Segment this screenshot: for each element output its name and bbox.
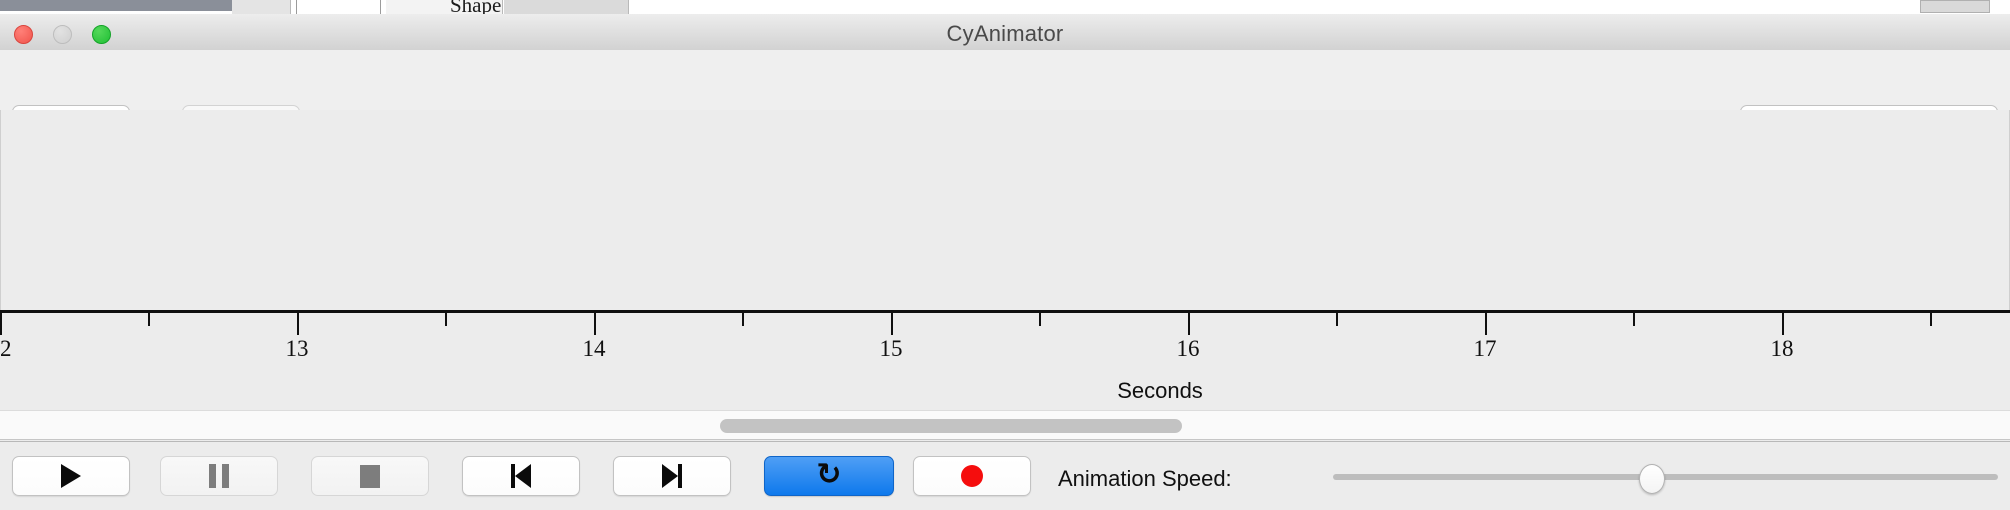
axis-tick-minor [148,313,150,326]
axis-tick-major [1782,313,1784,335]
axis-tick-label: 15 [880,336,903,362]
axis-tick-major [891,313,893,335]
background-tab-3 [504,0,629,14]
skip-forward-icon [662,464,682,488]
axis-tick-label: 14 [583,336,606,362]
background-shape-label: Shape [450,0,501,14]
play-icon [61,464,81,488]
axis-tick-minor [445,313,447,326]
background-window-strip: Shape [0,0,2010,14]
animation-speed-slider-track[interactable] [1333,474,1998,480]
horizontal-scrollbar[interactable] [0,410,2010,440]
background-tab-1 [232,0,291,14]
pause-icon [209,464,229,488]
background-divider-1 [296,0,297,14]
scrollbar-thumb[interactable] [720,419,1182,433]
record-button[interactable] [913,456,1031,496]
axis-tick-label: 18 [1771,336,1794,362]
title-bar[interactable]: CyAnimator [0,14,2010,51]
background-divider-2 [380,0,381,14]
loop-icon: ↻ [816,460,841,490]
background-right-box [1920,0,1990,13]
axis-tick-label: 12 [0,336,12,362]
transport-bar: ↻ Animation Speed: [0,441,2010,510]
axis-tick-major [1485,313,1487,335]
play-button[interactable] [12,456,130,496]
axis-tick-major [297,313,299,335]
axis-tick-label: 17 [1474,336,1497,362]
animation-speed-label: Animation Speed: [1058,466,1232,492]
axis-tick-major [0,313,2,335]
axis-tick-label: 13 [286,336,309,362]
axis-tick-minor [742,313,744,326]
axis-title: Seconds [0,378,2010,404]
pause-button[interactable] [160,456,278,496]
axis-tick-major [1188,313,1190,335]
background-titlebar-dark [0,0,232,11]
previous-frame-button[interactable] [462,456,580,496]
stop-icon [360,465,380,488]
window-title: CyAnimator [0,21,2010,47]
animation-speed-slider-thumb[interactable] [1639,464,1665,494]
axis-title-label: Seconds [1117,378,1203,403]
cyanimator-window: Shape CyAnimator Clear All Frames MCM1 [0,0,2010,510]
next-frame-button[interactable] [613,456,731,496]
axis-tick-minor [1039,313,1041,326]
record-icon [961,465,983,487]
timeline-frames-area[interactable]: MCM1MCM1MCM1 [0,110,2010,310]
loop-button[interactable]: ↻ [764,456,894,496]
skip-back-icon [511,464,531,488]
stop-button[interactable] [311,456,429,496]
axis-tick-major [594,313,596,335]
toolbar: Clear All Frames [0,50,2010,111]
axis-tick-label: 16 [1177,336,1200,362]
timeline-axis: 12131415161718 Seconds [0,310,2010,410]
axis-line [0,310,2010,313]
axis-tick-minor [1633,313,1635,326]
axis-tick-minor [1336,313,1338,326]
axis-tick-minor [1930,313,1932,326]
